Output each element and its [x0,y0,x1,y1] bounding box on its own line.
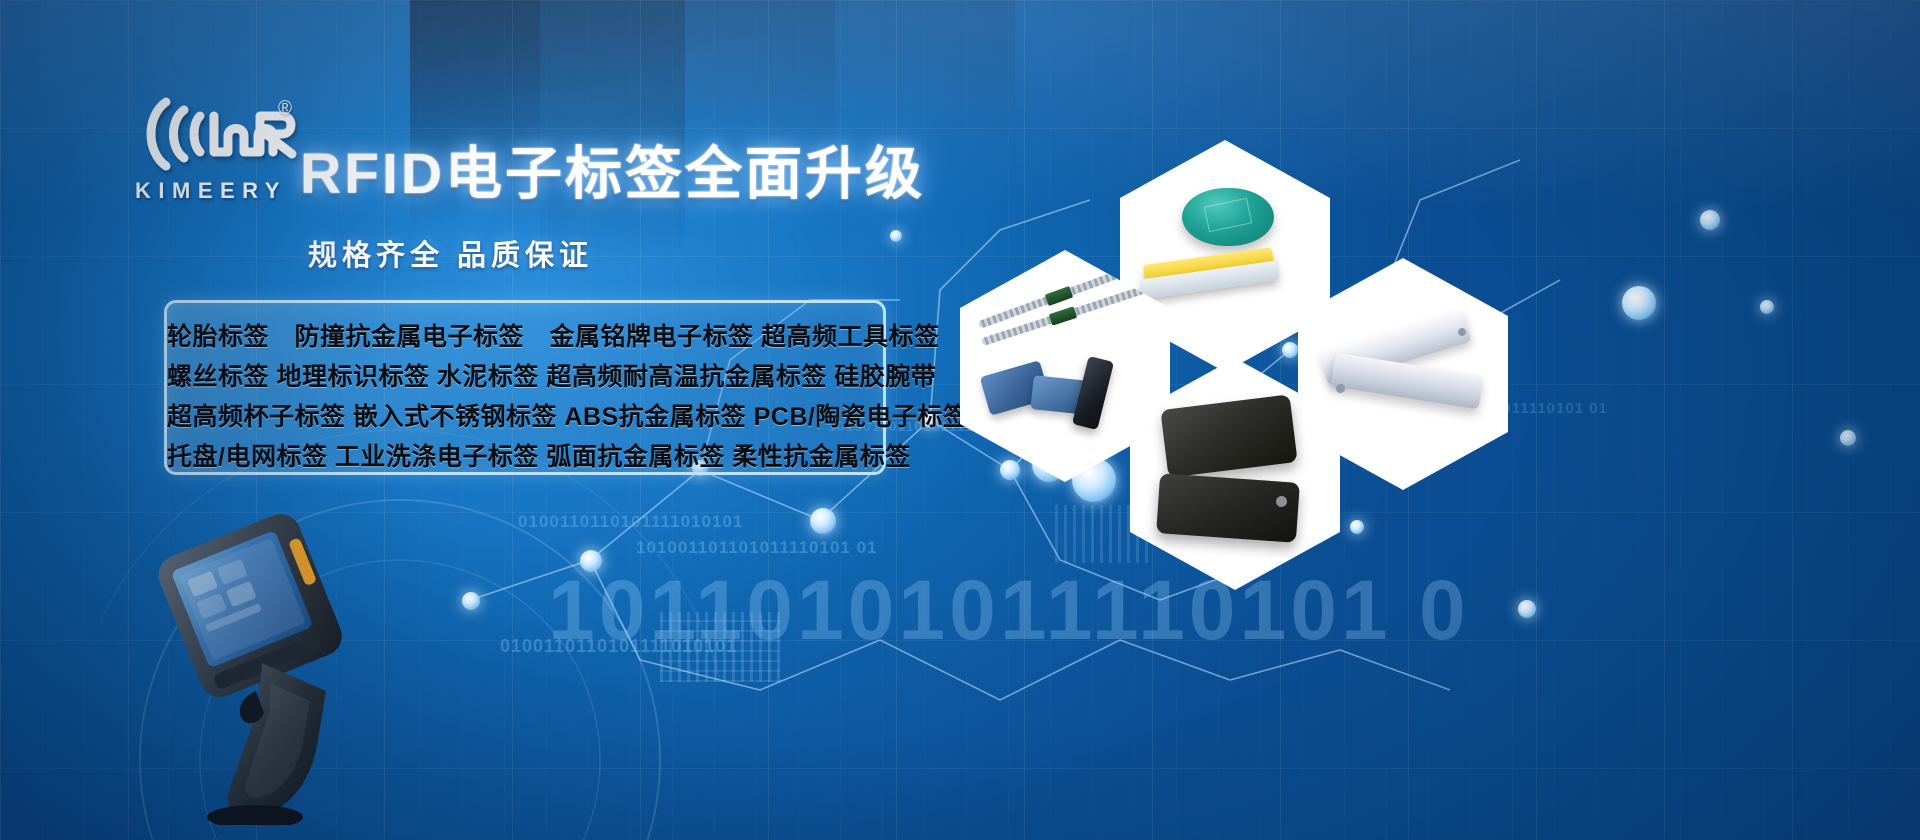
list-item: 托盘/电网标签 工业洗涤电子标签 弧面抗金属标签 柔性抗金属标签 [167,436,883,476]
screw-chip [1049,306,1077,325]
network-node [890,230,902,242]
product-hexagon-gallery [940,140,1500,560]
network-node [1622,286,1656,320]
dark-ceramic-tag [1156,473,1300,543]
list-item: 轮胎标签 防撞抗金属电子标签 金属铭牌电子标签 超高频工具标签 [167,316,883,356]
plate-hole-icon [1335,383,1345,393]
network-node [1840,430,1856,446]
kimeery-wave-logo-icon: ® [132,96,302,172]
registered-trademark-icon: ® [278,98,292,120]
product-category-list: 轮胎标签 防撞抗金属电子标签 金属铭牌电子标签 超高频工具标签 螺丝标签 地理标… [164,300,886,475]
handheld-rfid-reader [150,495,380,825]
network-node [1518,600,1536,618]
rfid-promo-banner: 0100110110101111010101 10100110110101111… [0,0,1920,840]
network-node [1700,210,1720,230]
screw-chip [1045,286,1074,306]
list-item: 超高频杯子标签 嵌入式不锈钢标签 ABS抗金属标签 PCB/陶瓷电子标签 [167,396,883,436]
page-title: RFID电子标签全面升级 [300,128,925,210]
page-subtitle: 规格齐全 品质保证 [308,232,593,274]
network-node [462,592,480,610]
network-node [1760,300,1774,314]
network-node [580,550,602,572]
dark-ceramic-tag [1160,394,1297,477]
network-node [810,508,836,534]
list-item: 螺丝标签 地理标识标签 水泥标签 超高频耐高温抗金属标签 硅胶腕带 [167,356,883,396]
